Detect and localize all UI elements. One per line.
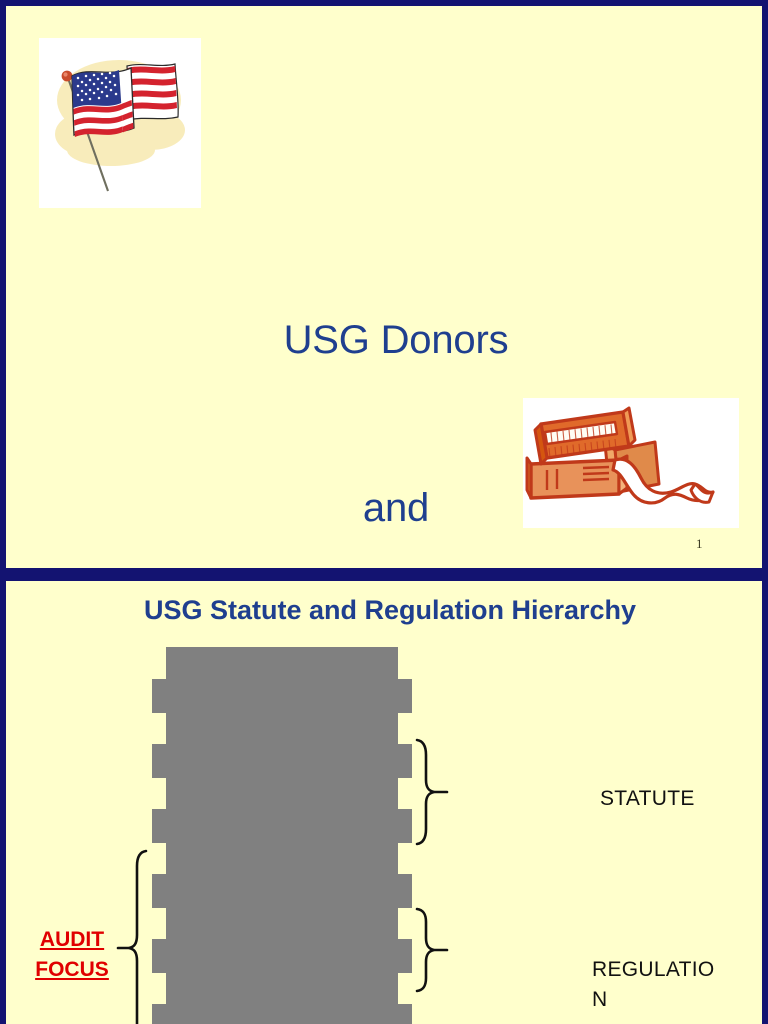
title-line-1: USG Donors bbox=[156, 312, 636, 368]
regulation-label-line-1: REGULATIO bbox=[592, 958, 715, 981]
presentation-page: USG Donors and Regulations Overview bbox=[0, 0, 768, 1024]
audit-focus-line-1: AUDIT bbox=[22, 925, 122, 955]
statute-label: STATUTE bbox=[600, 787, 695, 811]
us-flag-image bbox=[39, 38, 201, 208]
audit-focus-brace bbox=[118, 851, 146, 1024]
audit-focus-label: AUDIT FOCUS bbox=[22, 925, 122, 985]
regulation-label-line-2: N bbox=[592, 988, 607, 1011]
regulation-brace bbox=[417, 909, 447, 991]
slide-page-number: 1 bbox=[696, 536, 703, 552]
regulation-label: REGULATIO N bbox=[592, 955, 762, 1015]
stacked-books-icon bbox=[523, 398, 739, 528]
audit-focus-line-2: FOCUS bbox=[22, 955, 122, 985]
statute-brace bbox=[417, 740, 447, 844]
slide-1: USG Donors and Regulations Overview bbox=[0, 0, 768, 575]
us-flag-icon bbox=[39, 38, 201, 208]
books-image bbox=[523, 398, 739, 528]
gray-stepped-pyramid bbox=[152, 647, 412, 1024]
